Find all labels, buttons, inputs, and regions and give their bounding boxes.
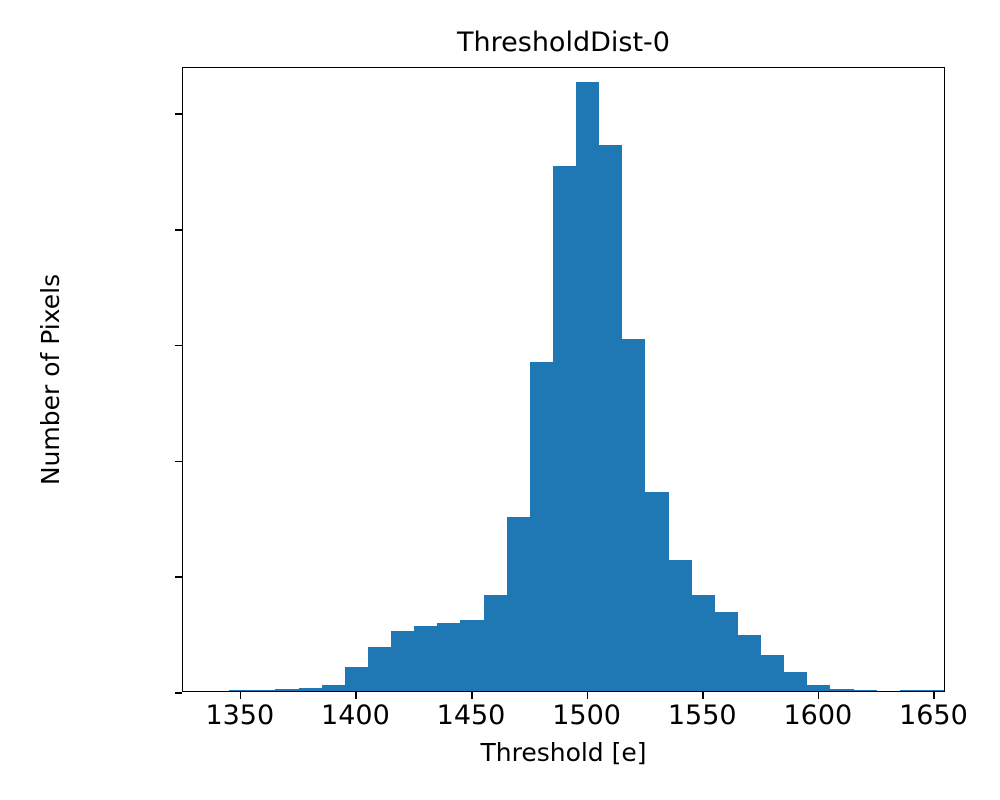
histogram-bar [484, 595, 507, 691]
x-tick-mark [933, 692, 935, 699]
histogram-bar [460, 620, 483, 691]
chart-title: ThresholdDist-0 [182, 26, 945, 60]
histogram-bar [830, 689, 853, 691]
x-tick-label: 1600 [783, 700, 852, 732]
x-tick-label: 1350 [205, 700, 274, 732]
histogram-bar [738, 635, 761, 691]
histogram-bar [414, 626, 437, 691]
histogram-bar [275, 689, 298, 691]
histogram-bar [923, 690, 945, 691]
histogram-bar [391, 631, 414, 691]
y-tick-mark [175, 229, 182, 231]
x-tick-mark [702, 692, 704, 699]
x-tick-mark [355, 692, 357, 699]
y-tick-mark [175, 345, 182, 347]
y-tick-mark [175, 576, 182, 578]
histogram-bars [183, 68, 944, 691]
x-tick-mark [587, 692, 589, 699]
x-tick-label: 1500 [552, 700, 621, 732]
figure-canvas: ThresholdDist-0 Number of Pixels 0500010… [0, 0, 1000, 800]
histogram-bar [715, 612, 738, 691]
histogram-bar [599, 145, 622, 691]
histogram-bar [784, 672, 807, 691]
histogram-bar [854, 690, 877, 691]
histogram-bar [645, 492, 668, 691]
histogram-bar [553, 166, 576, 691]
x-tick-label: 1550 [668, 700, 737, 732]
histogram-bar [807, 685, 830, 691]
x-tick-mark [240, 692, 242, 699]
histogram-bar [692, 595, 715, 691]
histogram-bar [322, 685, 345, 691]
x-tick-mark [471, 692, 473, 699]
x-tick-mark [818, 692, 820, 699]
x-axis-label: Threshold [e] [182, 738, 945, 767]
histogram-bar [252, 690, 275, 691]
x-tick-label: 1650 [899, 700, 968, 732]
histogram-bar [507, 517, 530, 691]
histogram-bar [622, 339, 645, 691]
histogram-bar [530, 362, 553, 691]
histogram-bar [299, 688, 322, 691]
y-tick-mark [175, 461, 182, 463]
histogram-bar [229, 690, 252, 691]
histogram-bar [576, 82, 599, 691]
y-tick-mark [175, 692, 182, 694]
histogram-bar [900, 690, 923, 691]
plot-area [182, 67, 945, 692]
histogram-bar [345, 667, 368, 691]
y-axis-label: Number of Pixels [34, 67, 68, 692]
histogram-bar [437, 623, 460, 691]
x-tick-label: 1450 [437, 700, 506, 732]
y-tick-mark [175, 113, 182, 115]
x-tick-label: 1400 [321, 700, 390, 732]
histogram-bar [669, 560, 692, 691]
histogram-bar [368, 647, 391, 691]
histogram-bar [761, 655, 784, 691]
